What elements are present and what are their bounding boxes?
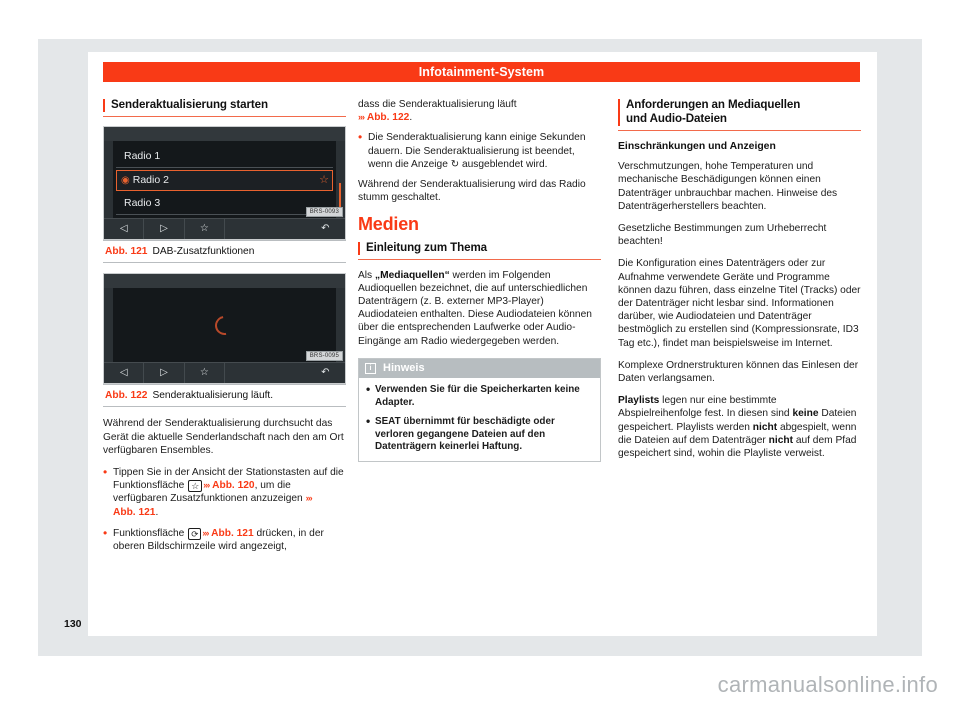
continuation-text: dass die Senderaktualisierung läuft bbox=[358, 99, 517, 110]
figure-number: Abb. 122 bbox=[105, 390, 147, 401]
list-item: Funktionsfläche ››› Abb. 121 drücken, in… bbox=[103, 527, 346, 553]
list-item: Die Senderaktualisierung kann einige Sek… bbox=[358, 131, 601, 171]
heading-einleitung: Einleitung zum Thema bbox=[358, 241, 601, 260]
refresh-key-icon bbox=[188, 528, 201, 540]
continuation-period: . bbox=[409, 112, 412, 123]
radio-station-label: Radio 3 bbox=[124, 197, 160, 210]
screen-toolbar: ◁ ▷ ☆ ↶ bbox=[104, 218, 345, 239]
arrow-glyph: ››› bbox=[202, 528, 208, 538]
arrow-glyph: ››› bbox=[203, 480, 209, 490]
radio-station-label: Radio 2 bbox=[133, 174, 169, 187]
bullet-text-part: ausgeblendet wird. bbox=[462, 159, 548, 170]
figure-number: Abb. 121 bbox=[105, 246, 147, 257]
figure-caption: Abb. 122Senderaktualisierung läuft. bbox=[103, 384, 346, 407]
star-key-icon bbox=[188, 480, 202, 492]
figure-reference[interactable]: Abb. 121 bbox=[113, 507, 155, 518]
star-icon[interactable]: ☆ bbox=[319, 174, 332, 187]
note-box-hinweis: i Hinweis Verwenden Sie für die Speicher… bbox=[358, 358, 601, 462]
refresh-inline-icon: ↻ bbox=[451, 159, 459, 170]
nicht-term: nicht bbox=[769, 435, 793, 446]
list-item: Verwenden Sie für die Speicherkarten kei… bbox=[366, 384, 593, 409]
paragraph-sender-search: Während der Senderaktualisierung durchsu… bbox=[103, 417, 346, 457]
page-number: 130 bbox=[64, 618, 82, 630]
intro-post: werden im Folgenden Audioquellen bezeich… bbox=[358, 270, 592, 347]
note-list: Verwenden Sie für die Speicherkarten kei… bbox=[366, 384, 593, 454]
page-viewport: Infotainment-System Senderaktualisierung… bbox=[0, 0, 960, 708]
figure-caption: Abb. 121DAB-Zusatzfunktionen bbox=[103, 240, 346, 263]
instruction-list: Tippen Sie in der Ansicht der Stationsta… bbox=[103, 466, 346, 553]
figure-abb-122: ◁ ▷ ☆ ↶ BRS-0095 Abb. 122Senderaktualisi… bbox=[103, 273, 346, 407]
note-body: Verwenden Sie für die Speicherkarten kei… bbox=[359, 378, 600, 461]
play-icon: ◉ bbox=[121, 174, 130, 187]
prev-icon[interactable]: ◁ bbox=[104, 363, 144, 383]
watermark: carmanualsonline.info bbox=[718, 672, 938, 698]
screen-toolbar: ◁ ▷ ☆ ↶ bbox=[104, 362, 345, 383]
paragraph-continuation: dass die Senderaktualisierung läuft ››› … bbox=[358, 98, 601, 124]
page-header-bar: Infotainment-System bbox=[103, 62, 860, 82]
paragraph-mute: Während der Senderaktualisierung wird da… bbox=[358, 178, 601, 204]
paragraph-playlists: Playlists legen nur eine bestimmte Abspi… bbox=[618, 394, 861, 460]
screen-top-bar bbox=[104, 127, 345, 142]
loading-spinner-icon bbox=[211, 312, 237, 338]
radio-list-item-selected[interactable]: ◉ Radio 2 ☆ bbox=[116, 170, 333, 191]
figure-reference[interactable]: Abb. 120 bbox=[212, 480, 254, 491]
back-icon[interactable]: ↶ bbox=[306, 219, 345, 239]
section-title-medien: Medien bbox=[358, 218, 601, 231]
figure-reference[interactable]: Abb. 122 bbox=[367, 112, 409, 123]
middle-column: dass die Senderaktualisierung läuft ››› … bbox=[358, 98, 601, 462]
left-column: Senderaktualisierung starten Radio 1 ◉ R… bbox=[103, 98, 346, 560]
radio-screen-updating: ◁ ▷ ☆ ↶ BRS-0095 bbox=[103, 273, 346, 384]
heading-anforderungen: Anforderungen an Mediaquellen und Audio-… bbox=[618, 98, 861, 131]
paragraph-mediaquellen-intro: Als „Mediaquellen“ werden im Folgenden A… bbox=[358, 269, 601, 348]
nicht-term: nicht bbox=[753, 422, 777, 433]
favorite-star-icon[interactable]: ☆ bbox=[185, 219, 225, 239]
keine-term: keine bbox=[792, 408, 818, 419]
scrollbar-indicator[interactable] bbox=[339, 183, 342, 207]
radio-list-item[interactable]: Radio 3 bbox=[116, 194, 333, 215]
note-title: Hinweis bbox=[383, 362, 425, 375]
intro-bold-term: „Mediaquellen“ bbox=[375, 270, 450, 281]
figure-reference[interactable]: Abb. 121 bbox=[211, 528, 253, 539]
bullet-text-part: Funktionsfläche bbox=[113, 528, 184, 539]
heading-senderaktualisierung: Senderaktualisierung starten bbox=[103, 98, 346, 117]
list-item: SEAT übernimmt für beschädigte oder verl… bbox=[366, 416, 593, 454]
intro-pre: Als bbox=[358, 270, 375, 281]
next-icon[interactable]: ▷ bbox=[144, 363, 184, 383]
screen-top-bar bbox=[104, 274, 345, 289]
page-header-title: Infotainment-System bbox=[419, 65, 545, 79]
figure-caption-text: DAB-Zusatzfunktionen bbox=[152, 246, 254, 257]
note-header: i Hinweis bbox=[359, 359, 600, 378]
playlists-term: Playlists bbox=[618, 395, 659, 406]
prev-icon[interactable]: ◁ bbox=[104, 219, 144, 239]
next-icon[interactable]: ▷ bbox=[144, 219, 184, 239]
radio-station-label: Radio 1 bbox=[124, 150, 160, 163]
info-icon: i bbox=[365, 363, 376, 374]
paragraph-konfiguration: Die Konfiguration eines Datenträgers ode… bbox=[618, 257, 861, 349]
arrow-glyph: ››› bbox=[358, 112, 364, 122]
paragraph-urheberrecht: Gesetzliche Bestimmungen zum Urheberrech… bbox=[618, 222, 861, 248]
subheading-einschraenkungen: Einschränkungen und Anzeigen bbox=[618, 140, 861, 153]
right-column: Anforderungen an Mediaquellen und Audio-… bbox=[618, 98, 861, 469]
screen-bezel-left bbox=[104, 141, 113, 219]
paragraph-ordnerstrukturen: Komplexe Ordnerstrukturen können das Ein… bbox=[618, 359, 861, 385]
figure-code: BRS-0095 bbox=[306, 351, 343, 361]
radio-list-item[interactable]: Radio 1 bbox=[116, 147, 333, 168]
favorite-star-icon[interactable]: ☆ bbox=[185, 363, 225, 383]
figure-abb-121: Radio 1 ◉ Radio 2 ☆ Radio 3 ◁ ▷ ☆ bbox=[103, 126, 346, 263]
radio-screen-dab: Radio 1 ◉ Radio 2 ☆ Radio 3 ◁ ▷ ☆ bbox=[103, 126, 346, 240]
paragraph-verschmutzungen: Verschmutzungen, hohe Temperaturen und m… bbox=[618, 160, 861, 213]
arrow-glyph: ››› bbox=[306, 493, 312, 503]
figure-caption-text: Senderaktualisierung läuft. bbox=[152, 390, 273, 401]
back-icon[interactable]: ↶ bbox=[306, 363, 345, 383]
bullet-text-part: . bbox=[155, 507, 158, 518]
figure-code: BRS-0093 bbox=[306, 207, 343, 217]
duration-list: Die Senderaktualisierung kann einige Sek… bbox=[358, 131, 601, 171]
list-item: Tippen Sie in der Ansicht der Stationsta… bbox=[103, 466, 346, 519]
